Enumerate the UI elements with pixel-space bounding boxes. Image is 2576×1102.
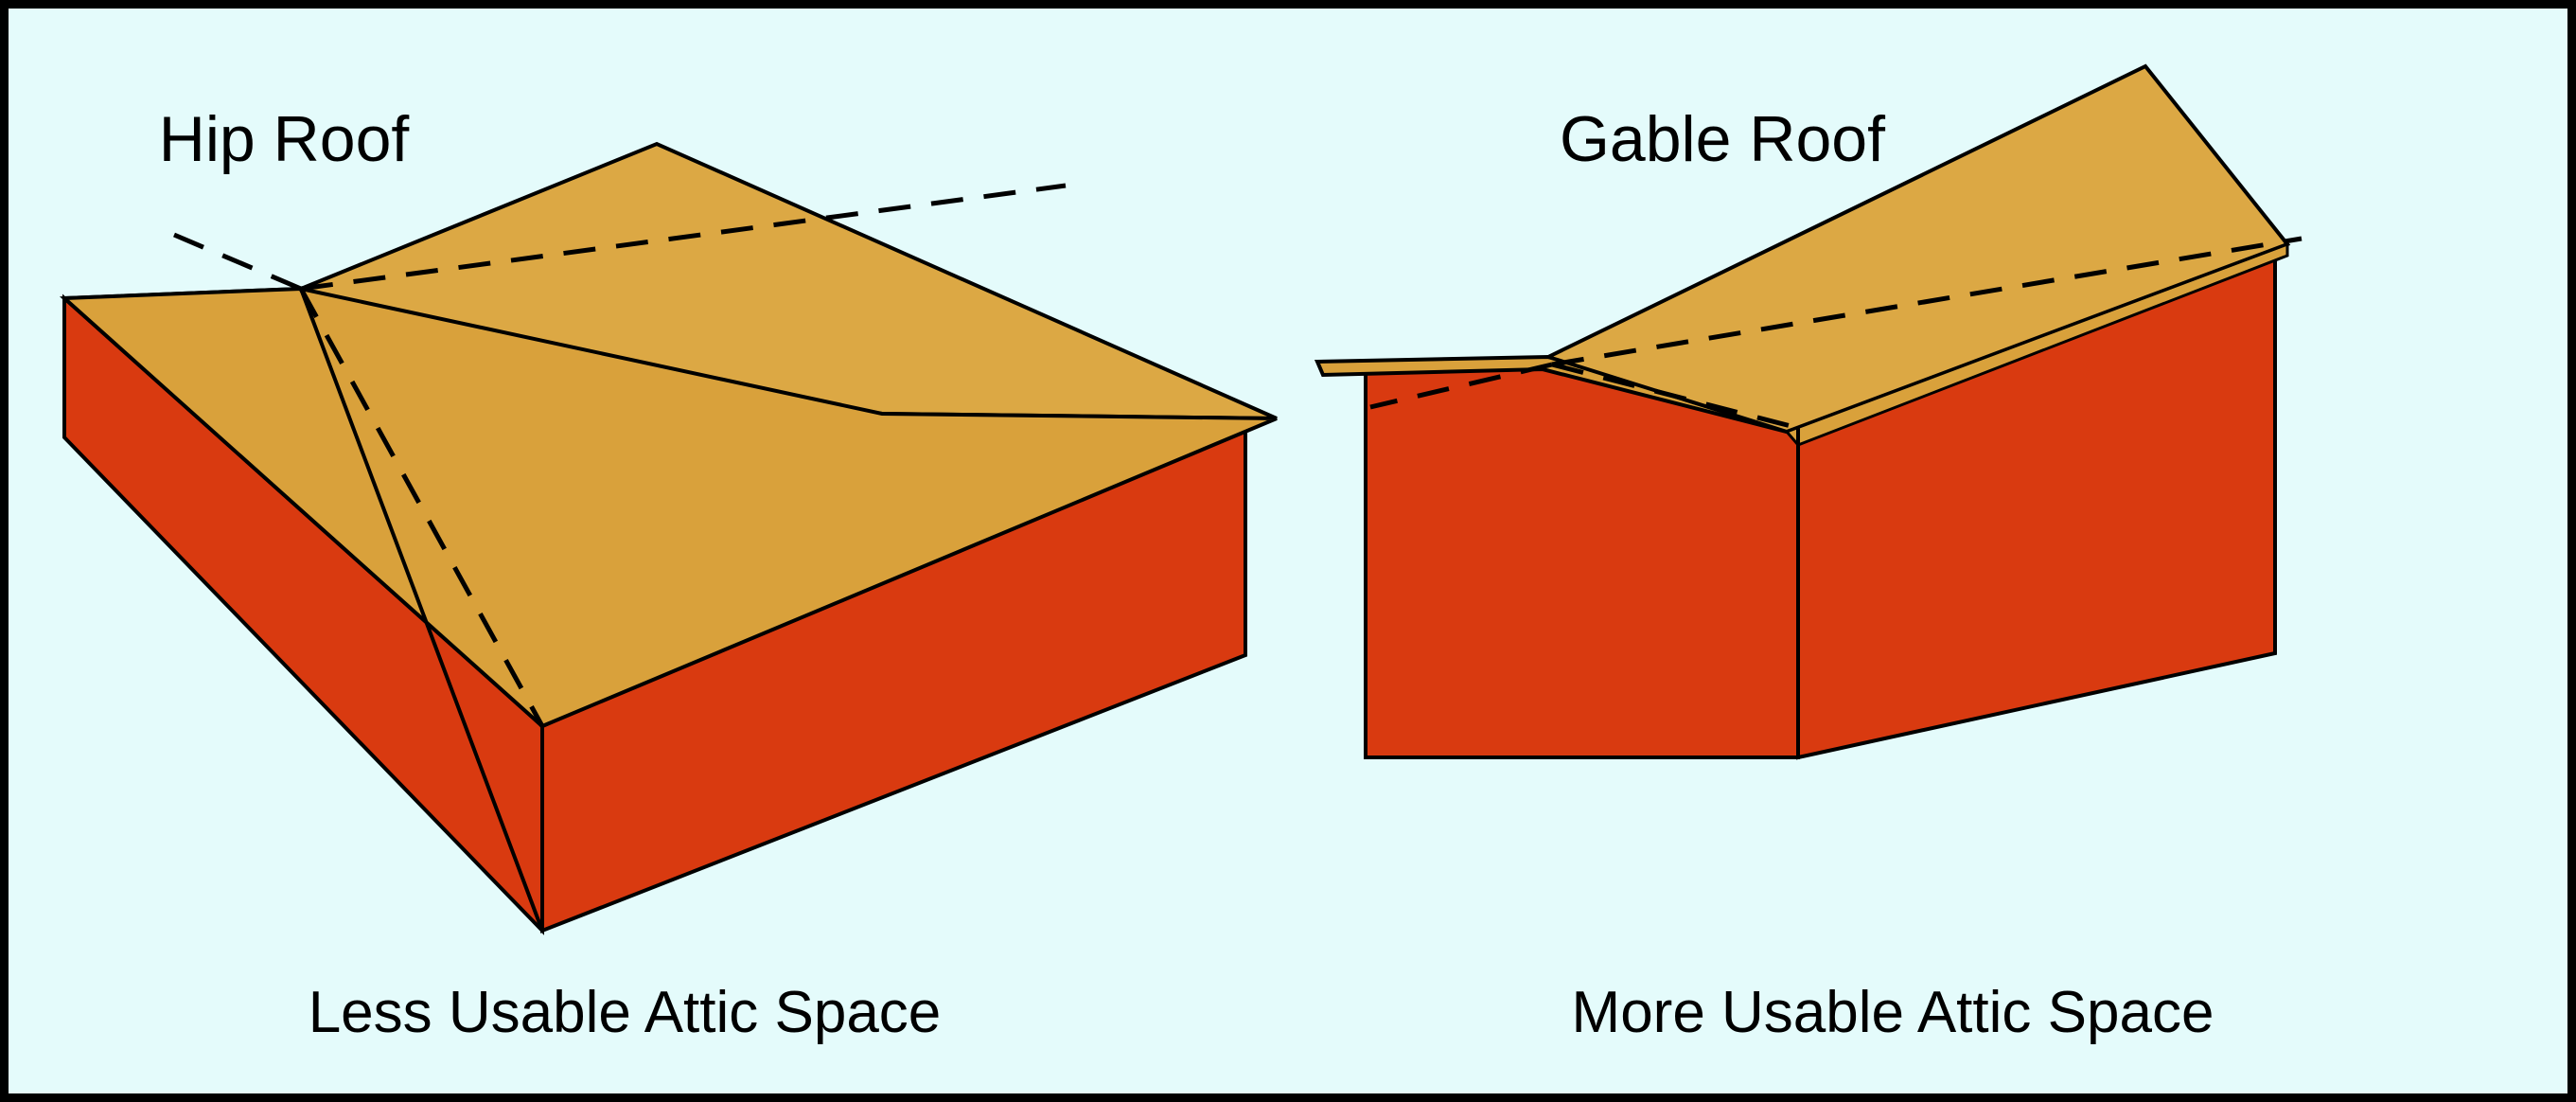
hip-roof-title: Hip Roof <box>159 103 410 175</box>
gable-roof-title: Gable Roof <box>1560 103 1885 175</box>
roof-comparison-diagram: Hip Roof Gable Roof Less Usable Attic Sp… <box>0 0 2576 1102</box>
diagram-canvas: Hip Roof Gable Roof Less Usable Attic Sp… <box>0 0 2576 1102</box>
figure-stage: Hip Roof Gable Roof Less Usable Attic Sp… <box>0 0 2576 1102</box>
gable-roof-caption: More Usable Attic Space <box>1572 980 2214 1045</box>
hip-roof-caption: Less Usable Attic Space <box>309 980 942 1045</box>
gable-end-wall-face <box>1366 364 1798 757</box>
